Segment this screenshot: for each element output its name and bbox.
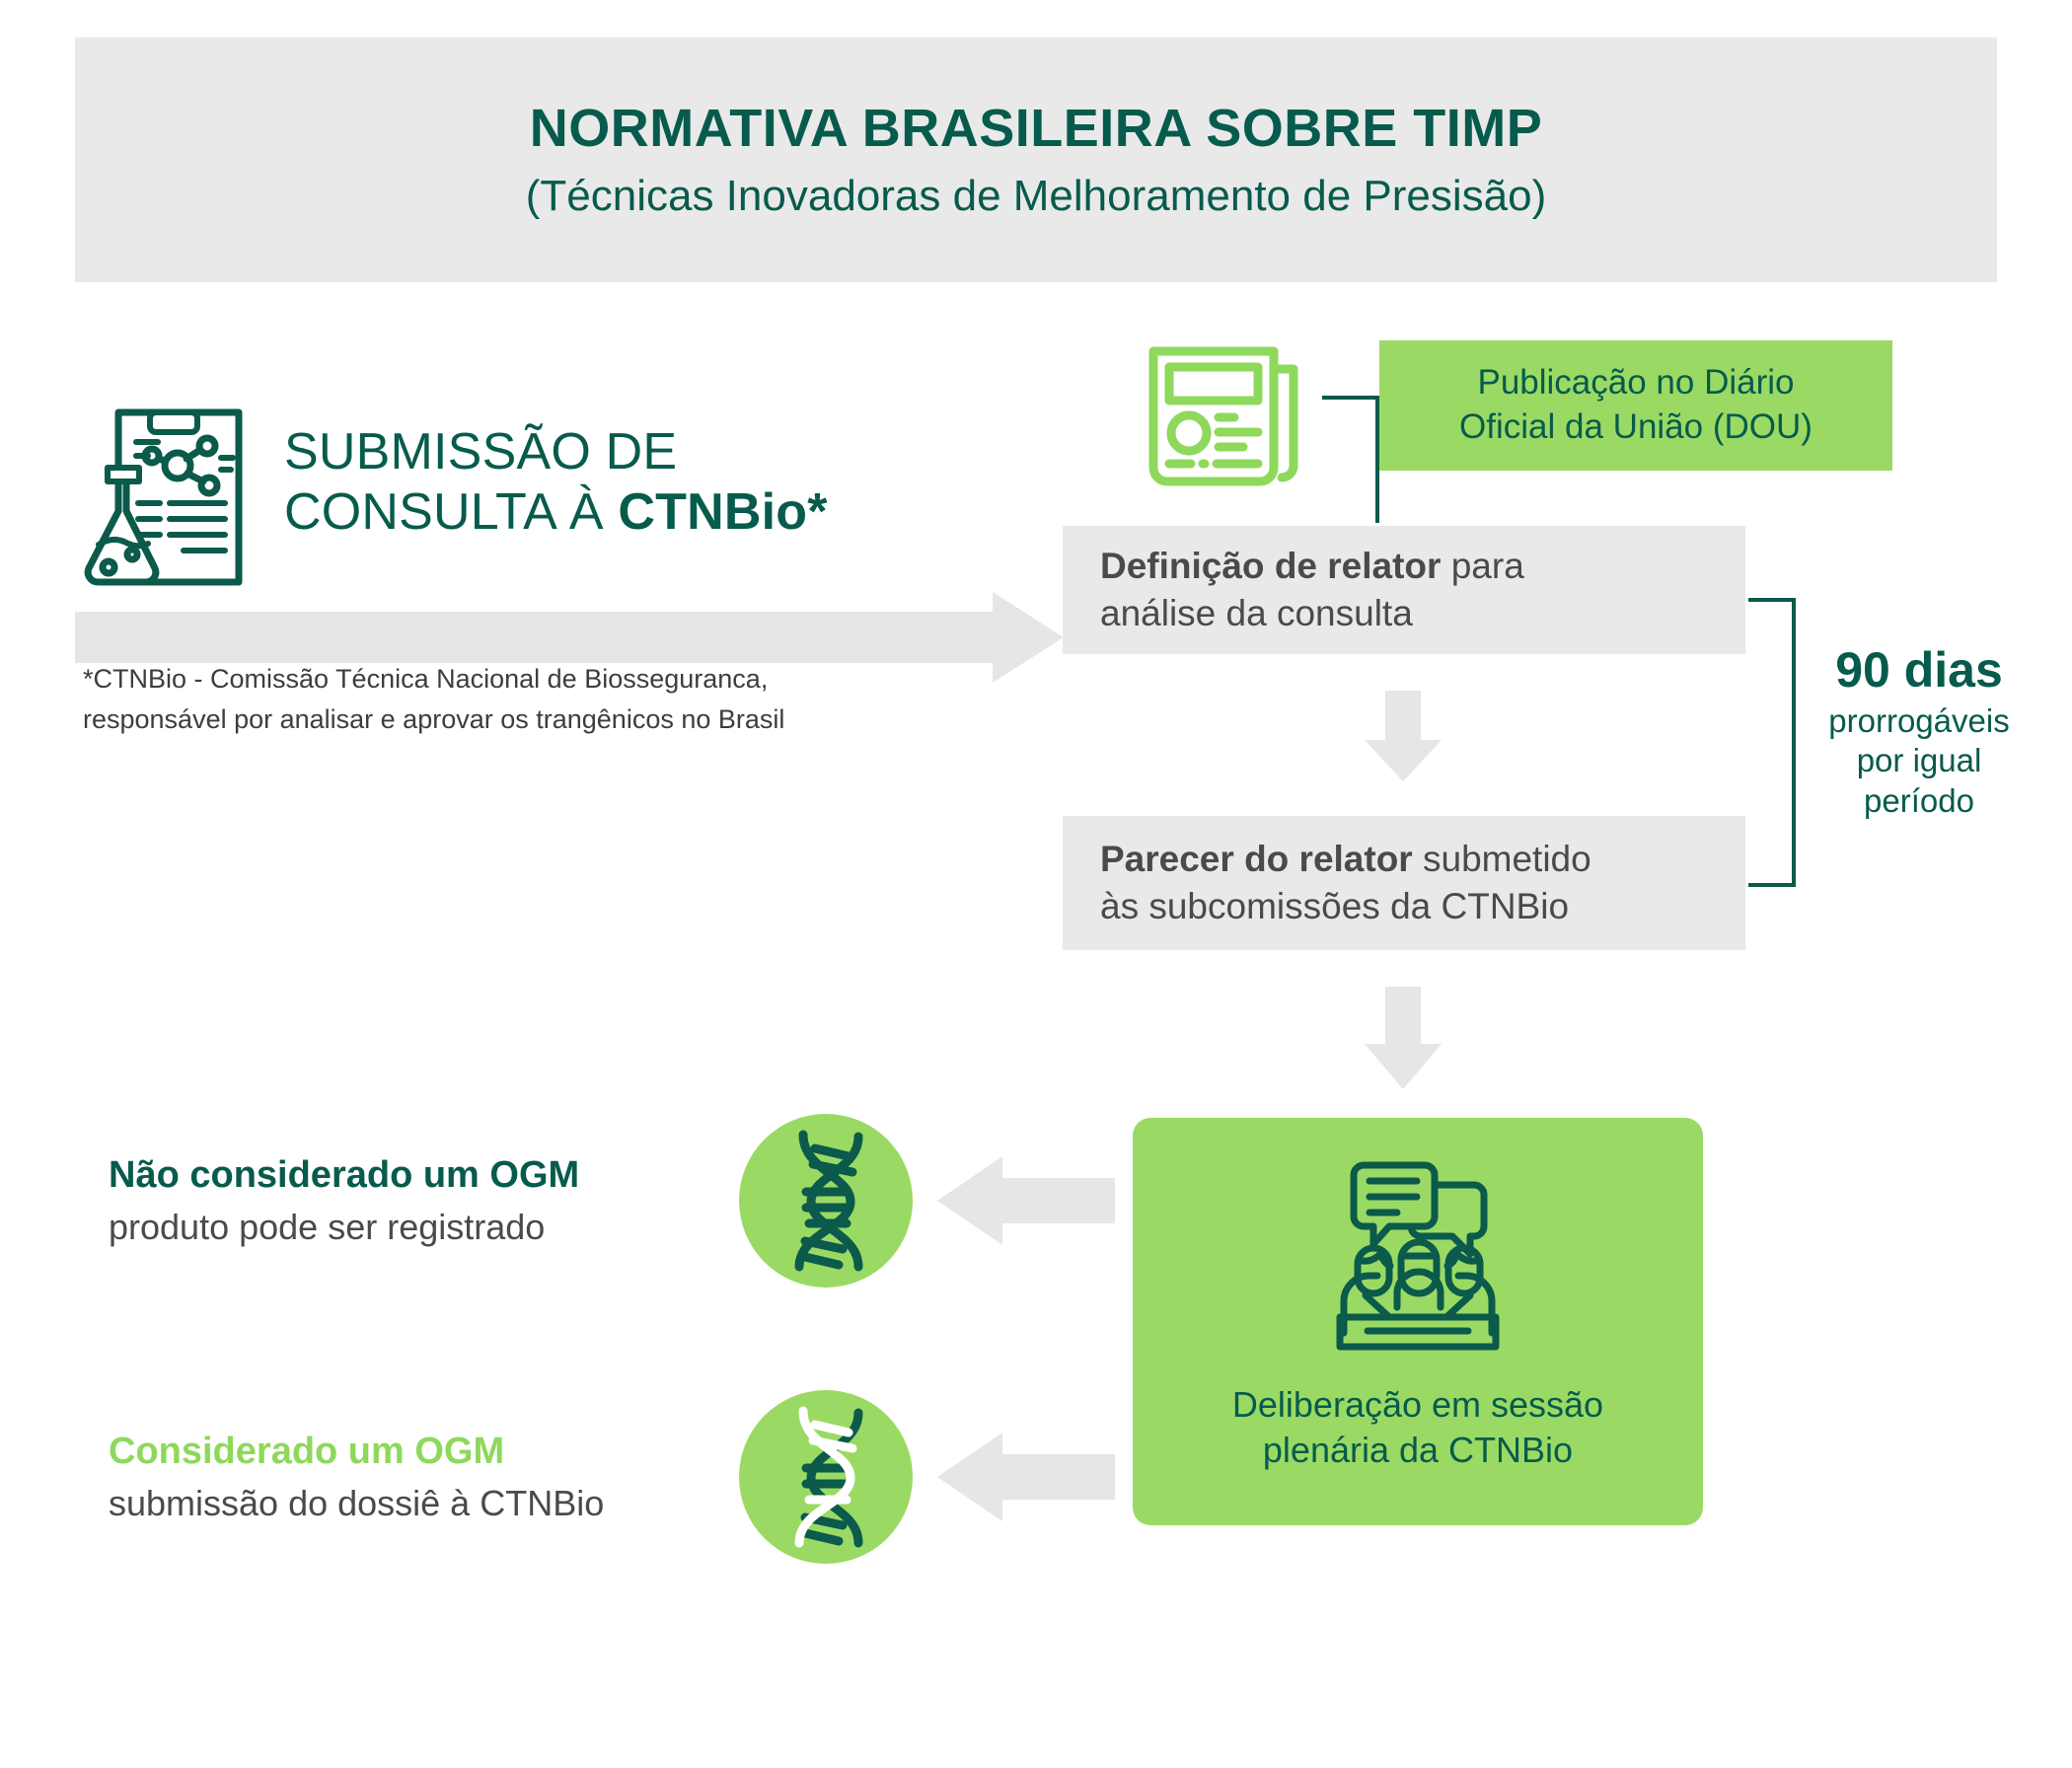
definicao-bold: Definição de relator: [1100, 546, 1441, 586]
deadline-block: 90 dias prorrogáveis por igual período: [1796, 643, 2042, 821]
footnote-line-2: responsável por analisar e aprovar os tr…: [83, 700, 1000, 740]
outcome-subtitle-nao-ogm: produto pode ser registrado: [109, 1206, 720, 1248]
parecer-bold: Parecer do relator: [1100, 839, 1413, 879]
deadline-days: 90 dias: [1796, 643, 2042, 698]
flow-arrow-down-2: [1365, 987, 1442, 1089]
process-box-definicao-relator: Definição de relator para análise da con…: [1063, 526, 1745, 654]
outcome-text-nao-ogm: Não considerado um OGM produto pode ser …: [109, 1153, 720, 1249]
deadline-caption-2: por igual: [1857, 742, 1982, 778]
header-banner: NORMATIVA BRASILEIRA SOBRE TIMP (Técnica…: [75, 37, 1997, 282]
dou-connector-line: [1320, 395, 1381, 525]
publication-dou-box: Publicação no Diário Oficial da União (D…: [1379, 340, 1892, 471]
process-box-definicao-text: Definição de relator para análise da con…: [1063, 543, 1562, 637]
infographic-canvas: NORMATIVA BRASILEIRA SOBRE TIMP (Técnica…: [0, 0, 2072, 1768]
outcome-text-considerado-ogm: Considerado um OGM submissão do dossiê à…: [109, 1430, 720, 1525]
dou-line-1: Publicação no Diário: [1477, 363, 1794, 402]
submission-heading: SUBMISSÃO DE CONSULTA À CTNBio*: [284, 422, 975, 544]
parecer-line2: às subcomissões da CTNBio: [1100, 886, 1569, 926]
flow-arrow-left-1: [937, 1156, 1115, 1245]
dna-helix-icon: [736, 1387, 916, 1567]
dna-helix-icon: [736, 1111, 916, 1290]
process-box-parecer-relator: Parecer do relator submetido às subcomis…: [1063, 816, 1745, 950]
page-subtitle: (Técnicas Inovadoras de Melhoramento de …: [526, 173, 1547, 220]
submission-heading-line1: SUBMISSÃO DE: [284, 423, 677, 480]
definicao-line2: análise da consulta: [1100, 593, 1413, 633]
dou-line-2: Oficial da União (DOU): [1459, 407, 1813, 446]
deadline-caption: prorrogáveis por igual período: [1796, 701, 2042, 821]
deliberation-caption: Deliberação em sessão plenária da CTNBio: [1232, 1382, 1603, 1473]
flask-document-icon: [75, 405, 249, 592]
submission-heading-line2-plain: CONSULTA À: [284, 483, 618, 541]
deliberation-line-1: Deliberação em sessão: [1232, 1384, 1603, 1425]
parecer-rest: submetido: [1413, 839, 1591, 879]
deadline-bracket: [1748, 597, 1798, 888]
process-box-parecer-text: Parecer do relator submetido às subcomis…: [1063, 836, 1629, 930]
flow-arrow-left-2: [937, 1433, 1115, 1521]
deadline-caption-3: período: [1864, 782, 1974, 819]
page-title: NORMATIVA BRASILEIRA SOBRE TIMP: [530, 100, 1543, 158]
definicao-rest: para: [1441, 546, 1523, 586]
newspaper-icon: [1140, 337, 1317, 495]
deadline-caption-1: prorrogáveis: [1828, 702, 2009, 739]
outcome-title-nao-ogm: Não considerado um OGM: [109, 1153, 720, 1199]
deliberation-line-2: plenária da CTNBio: [1263, 1430, 1573, 1470]
publication-dou-text: Publicação no Diário Oficial da União (D…: [1447, 361, 1824, 450]
footnote-line-1: *CTNBio - Comissão Técnica Nacional de B…: [83, 659, 1000, 700]
flow-arrow-down-1: [1365, 691, 1442, 781]
outcome-title-considerado-ogm: Considerado um OGM: [109, 1430, 720, 1475]
outcome-row-considerado-ogm: Considerado um OGM submissão do dossiê à…: [109, 1383, 1135, 1571]
submission-heading-line2-bold: CTNBio*: [618, 483, 827, 541]
outcome-subtitle-considerado-ogm: submissão do dossiê à CTNBio: [109, 1482, 720, 1524]
deliberation-card: Deliberação em sessão plenária da CTNBio: [1133, 1118, 1703, 1525]
outcome-row-nao-ogm: Não considerado um OGM produto pode ser …: [109, 1107, 1135, 1294]
ctnbio-footnote: *CTNBio - Comissão Técnica Nacional de B…: [83, 659, 1000, 739]
meeting-discussion-icon: [1304, 1143, 1531, 1370]
